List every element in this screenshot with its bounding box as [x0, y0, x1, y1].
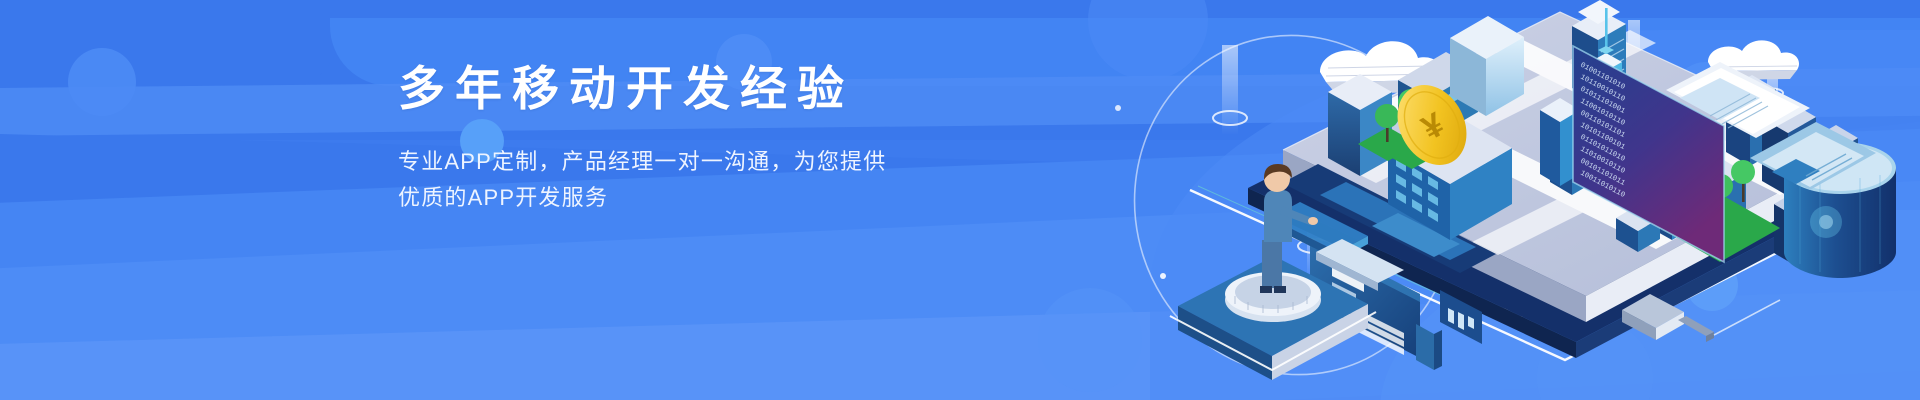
circle-top-left-large — [68, 48, 136, 116]
banner-copy: 多年移动开发经验 专业APP定制，产品经理一对一沟通，为您提供 优质的APP开发… — [398, 60, 1018, 216]
promo-banner: 多年移动开发经验 专业APP定制，产品经理一对一沟通，为您提供 优质的APP开发… — [0, 0, 1920, 400]
banner-headline: 多年移动开发经验 — [398, 60, 1018, 118]
banner-subtitle-line2: 优质的APP开发服务 — [398, 185, 608, 210]
banner-subtitle: 专业APP定制，产品经理一对一沟通，为您提供 优质的APP开发服务 — [398, 144, 918, 215]
isometric-city-illustration: ¥ — [1020, 0, 1920, 400]
banner-subtitle-line1: 专业APP定制，产品经理一对一沟通，为您提供 — [398, 149, 886, 174]
